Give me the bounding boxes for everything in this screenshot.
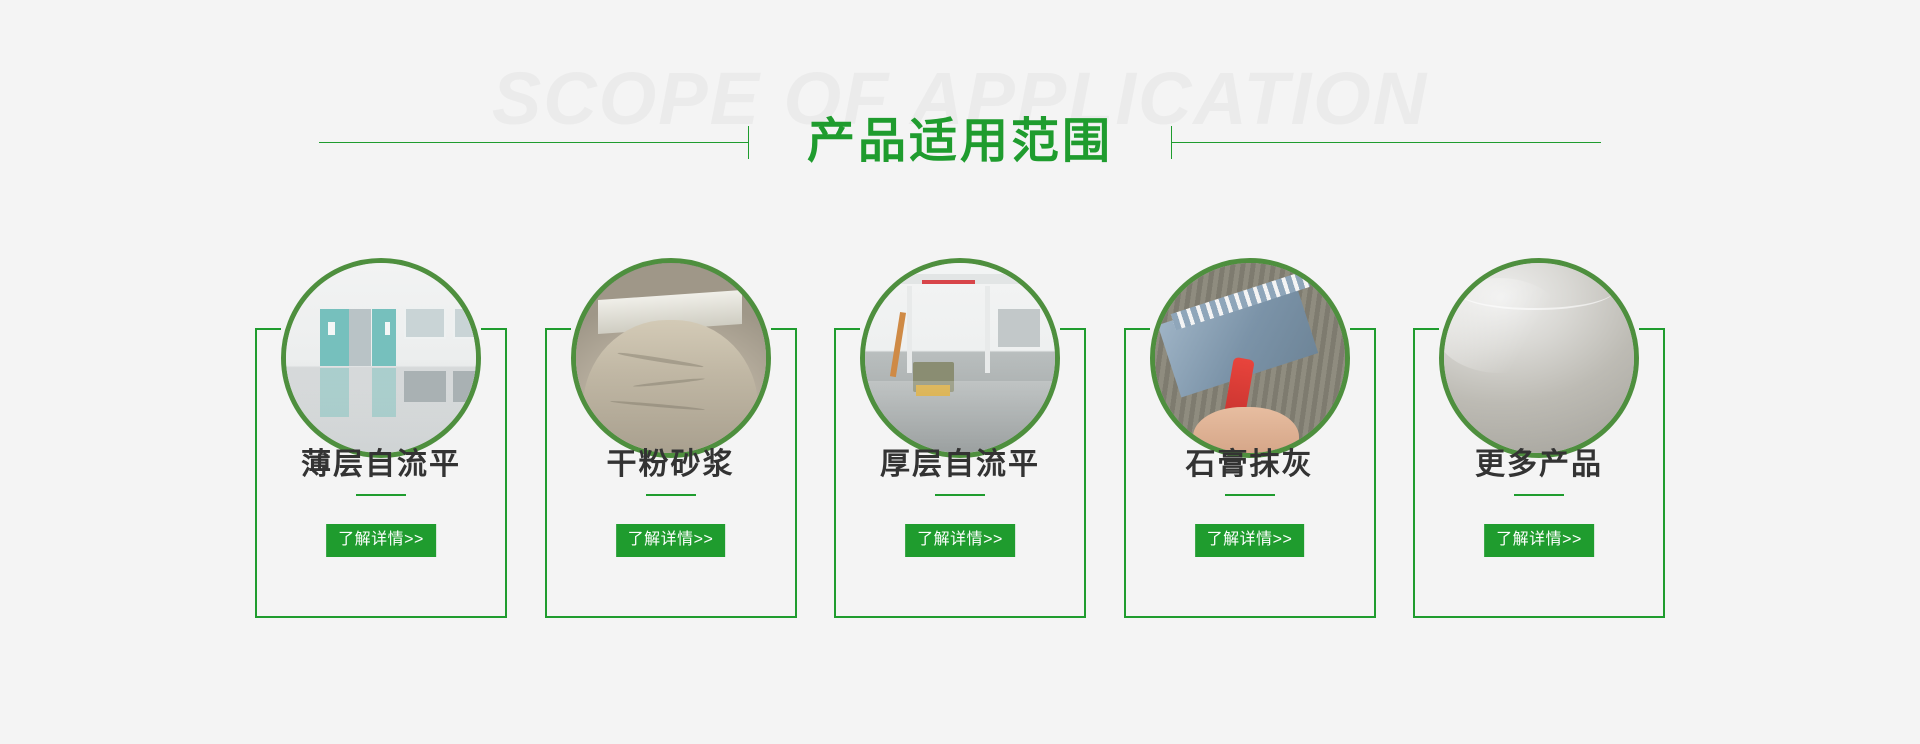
photo-detail bbox=[320, 368, 349, 417]
card-label-underline bbox=[356, 494, 406, 496]
photo-detail bbox=[985, 286, 991, 373]
photo-detail bbox=[453, 307, 481, 339]
card-label: 干粉砂浆 bbox=[545, 450, 797, 480]
title-rule-right bbox=[1171, 142, 1601, 143]
photo-detail bbox=[404, 371, 446, 401]
card-label-underline bbox=[1514, 494, 1564, 496]
photo-detail bbox=[349, 309, 372, 366]
section-header: SCOPE OF APPLICATION 产品适用范围 bbox=[0, 0, 1920, 220]
card-label: 厚层自流平 bbox=[834, 450, 1086, 480]
card-label: 薄层自流平 bbox=[255, 450, 507, 480]
title-row: 产品适用范围 bbox=[0, 118, 1920, 166]
learn-more-button[interactable]: 了解详情>> bbox=[905, 524, 1015, 557]
card-label: 石膏抹灰 bbox=[1124, 450, 1376, 480]
card-image-circle bbox=[1439, 258, 1639, 458]
photo-detail bbox=[922, 280, 975, 284]
application-card[interactable]: 石膏抹灰 了解详情>> bbox=[1124, 258, 1376, 618]
photo-detail bbox=[583, 320, 758, 458]
card-label: 更多产品 bbox=[1413, 450, 1665, 480]
photo-detail bbox=[372, 309, 397, 366]
photo-detail bbox=[385, 322, 391, 335]
scope-of-application-section: SCOPE OF APPLICATION 产品适用范围 bbox=[0, 0, 1920, 744]
photo-detail bbox=[865, 381, 1055, 453]
photo-detail bbox=[320, 309, 349, 366]
learn-more-button[interactable]: 了解详情>> bbox=[616, 524, 726, 557]
photo-detail bbox=[890, 312, 906, 377]
card-image-circle bbox=[281, 258, 481, 458]
photo-detail bbox=[998, 309, 1040, 347]
warehouse-floor-machine-photo bbox=[865, 263, 1055, 453]
application-card[interactable]: 薄层自流平 了解详情>> bbox=[255, 258, 507, 618]
card-image-circle bbox=[860, 258, 1060, 458]
application-card-list: 薄层自流平 了解详情>> 干粉砂浆 了解详情>> bbox=[255, 258, 1665, 618]
application-card[interactable]: 厚层自流平 了解详情>> bbox=[834, 258, 1086, 618]
dry-powder-mortar-heap-photo bbox=[576, 263, 766, 453]
photo-detail bbox=[404, 307, 446, 339]
card-label-underline bbox=[646, 494, 696, 496]
learn-more-button[interactable]: 了解详情>> bbox=[1484, 524, 1594, 557]
photo-detail bbox=[372, 368, 397, 417]
card-image-circle bbox=[1150, 258, 1350, 458]
notched-trowel-plaster-photo bbox=[1155, 263, 1345, 453]
application-card[interactable]: 更多产品 了解详情>> bbox=[1413, 258, 1665, 618]
learn-more-button[interactable]: 了解详情>> bbox=[1195, 524, 1305, 557]
title-rule-right-tick bbox=[1171, 126, 1172, 159]
card-image-circle bbox=[571, 258, 771, 458]
title-rule-left bbox=[319, 142, 749, 143]
card-label-underline bbox=[1225, 494, 1275, 496]
application-card[interactable]: 干粉砂浆 了解详情>> bbox=[545, 258, 797, 618]
photo-detail bbox=[907, 286, 913, 373]
card-label-underline bbox=[935, 494, 985, 496]
page-title: 产品适用范围 bbox=[749, 118, 1171, 166]
learn-more-button[interactable]: 了解详情>> bbox=[326, 524, 436, 557]
clean-room-epoxy-floor-photo bbox=[286, 263, 476, 453]
photo-detail bbox=[328, 322, 336, 335]
photo-detail bbox=[1439, 278, 1566, 373]
polished-grey-surface-photo bbox=[1444, 263, 1634, 453]
